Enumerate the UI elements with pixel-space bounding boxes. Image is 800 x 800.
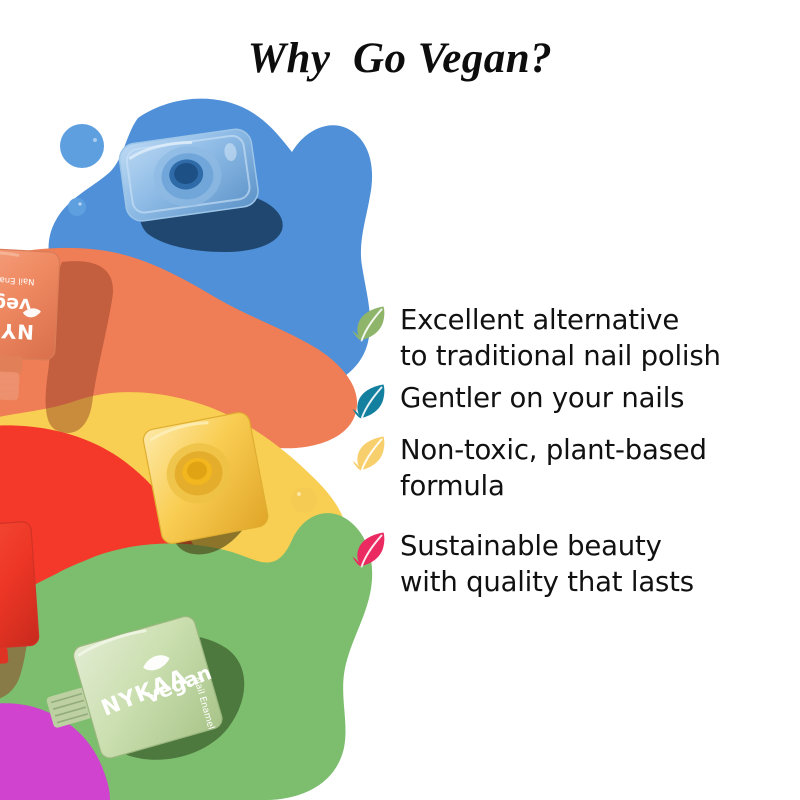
red-bottle: Nail Enamel — [0, 521, 40, 700]
purple-splash — [0, 703, 110, 800]
red-splash — [0, 425, 233, 710]
list-item-sustainable-beauty: Sustainable beauty with quality that las… — [352, 526, 792, 600]
blue-droplet-large — [60, 124, 104, 168]
blue-bottle — [118, 127, 283, 252]
yellow-splash — [0, 392, 347, 588]
list-item-gentler-on-nails: Gentler on your nails — [352, 378, 792, 426]
svg-text:NYKAA: NYKAA — [98, 665, 191, 722]
leaf-icon — [352, 528, 390, 574]
leaf-icon — [352, 380, 390, 426]
list-item-label: Non-toxic, plant-based formula — [400, 430, 707, 504]
yellow-bottle — [142, 411, 270, 555]
list-item-excellent-alternative: Excellent alternative to traditional nai… — [352, 300, 792, 374]
list-item-label: Sustainable beauty with quality that las… — [400, 526, 694, 600]
benefits-list: Excellent alternative to traditional nai… — [352, 300, 792, 600]
svg-text:vegan: vegan — [0, 291, 32, 316]
list-item-non-toxic-plant-based: Non-toxic, plant-based formula — [352, 430, 792, 504]
list-item-label: Excellent alternative to traditional nai… — [400, 300, 721, 374]
green-splash — [0, 513, 372, 800]
leaf-icon — [352, 302, 390, 348]
yellow-droplet — [291, 487, 317, 513]
svg-text:Nail Enamel: Nail Enamel — [0, 274, 35, 287]
leaf-icon — [352, 432, 390, 478]
orange-splash — [0, 248, 357, 448]
list-item-label: Gentler on your nails — [400, 378, 684, 416]
page-title: Why Go Vegan? — [0, 34, 800, 83]
blue-droplet-small — [68, 198, 86, 216]
coral-bottle: NYKAA vegan Nail Enamel — [0, 247, 113, 433]
svg-text:Nail Enamel: Nail Enamel — [191, 676, 215, 730]
poster-canvas: NYKAA vegan Nail Enamel Nail Enamel — [0, 0, 800, 800]
blue-splash — [49, 99, 373, 389]
svg-text:vegan: vegan — [142, 660, 215, 708]
green-bottle: NYKAA vegan Nail Enamel — [35, 613, 245, 770]
svg-text:NYKAA: NYKAA — [0, 316, 34, 344]
